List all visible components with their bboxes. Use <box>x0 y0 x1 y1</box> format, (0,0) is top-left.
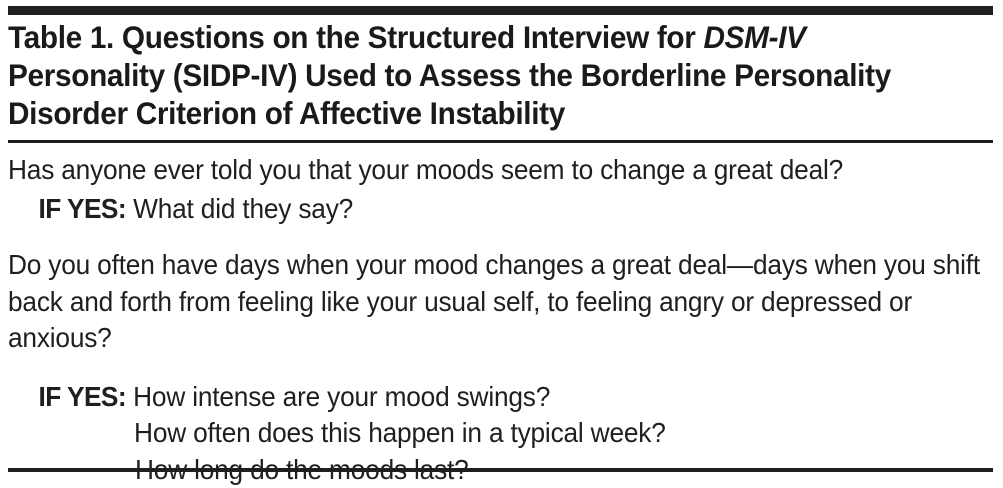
table-title-rule <box>8 140 993 143</box>
question-1-followups: IF YES: What did they say? <box>8 191 992 228</box>
table-title-part-3: Personality (SIDP-IV) Used to Assess the… <box>8 57 891 131</box>
question-1-prompt: Has anyone ever told you that your moods… <box>8 152 992 189</box>
table-title-italic-dsm-iv: DSM-IV <box>703 19 805 55</box>
question-1-followup-text-1: What did they say? <box>133 193 353 224</box>
question-block-2: Do you often have days when your mood ch… <box>8 247 992 488</box>
table-title-part-1: Table 1. Questions on the Structured Int… <box>8 19 703 55</box>
if-yes-label-2: IF YES: <box>39 381 126 412</box>
table-bottom-rule <box>8 468 993 472</box>
question-2-followup-line-1: IF YES: How intense are your mood swings… <box>39 379 992 416</box>
question-2-followup-text-1: How intense are your mood swings? <box>133 381 550 412</box>
if-yes-label-1: IF YES: <box>39 193 126 224</box>
question-2-prompt: Do you often have days when your mood ch… <box>8 247 992 357</box>
table-body: Has anyone ever told you that your moods… <box>8 152 993 488</box>
question-block-1: Has anyone ever told you that your moods… <box>8 152 992 227</box>
table-top-rule <box>8 6 993 15</box>
table-title: Table 1. Questions on the Structured Int… <box>8 18 929 132</box>
question-2-followup-line-2: How often does this happen in a typical … <box>39 415 992 452</box>
question-1-followup-line-1: IF YES: What did they say? <box>39 191 992 228</box>
table-figure: Table 1. Questions on the Structured Int… <box>0 0 1003 485</box>
